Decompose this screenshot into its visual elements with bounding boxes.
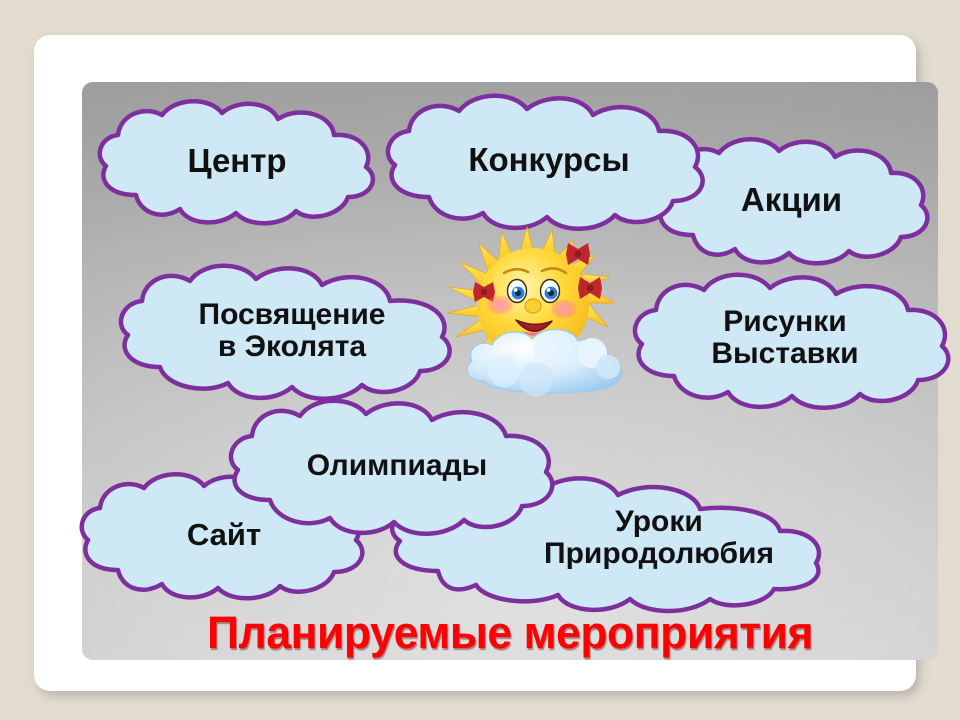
cloud-risunki-vystavki[interactable]: Рисунки Выставки bbox=[626, 268, 944, 408]
cloud-shape-icon bbox=[379, 93, 719, 228]
sun-nose-icon bbox=[525, 299, 541, 313]
cloud-shape-icon bbox=[626, 268, 944, 408]
cloud-shape-icon bbox=[222, 400, 572, 532]
cloud-konkursy[interactable]: Конкурсы bbox=[379, 93, 719, 228]
slide-canvas: Центр Конкурсы Акции bbox=[0, 0, 960, 720]
smiling-sun-illustration bbox=[432, 221, 642, 406]
sun-cheek-left-icon bbox=[487, 296, 513, 315]
smiling-sun-icon bbox=[432, 221, 642, 406]
slide-card-frame: Центр Конкурсы Акции bbox=[34, 35, 916, 691]
cloud-shape-icon bbox=[112, 263, 472, 398]
page-title: Планируемые мероприятия bbox=[86, 607, 933, 659]
sun-cheek-right-icon bbox=[551, 300, 577, 319]
cloud-shape-icon bbox=[92, 97, 382, 225]
cloud-centr[interactable]: Центр bbox=[92, 97, 382, 225]
cloud-posvyaschenie[interactable]: Посвящение в Эколята bbox=[112, 263, 472, 398]
cloud-olimpiady[interactable]: Олимпиады bbox=[222, 400, 572, 532]
